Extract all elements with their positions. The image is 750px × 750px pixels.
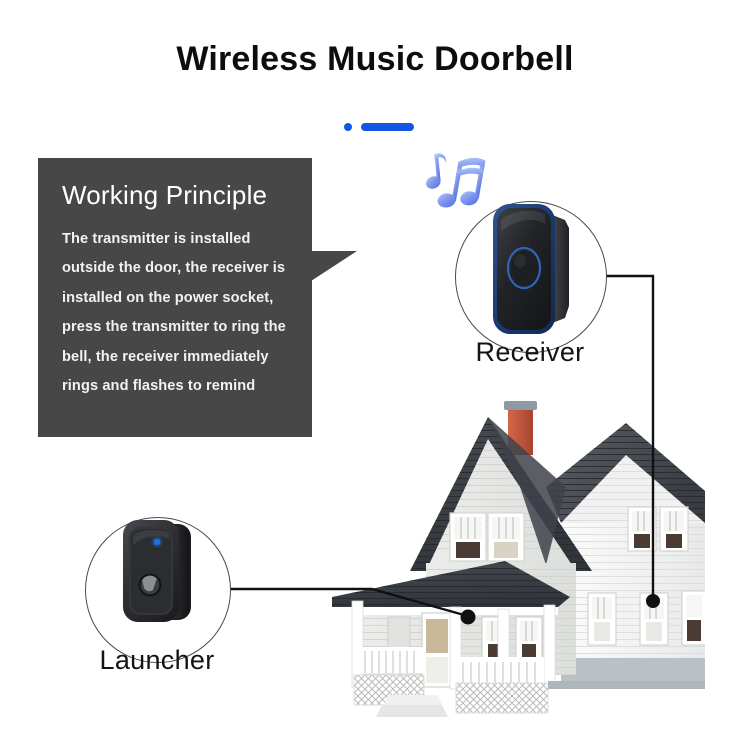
callout-heading: Working Principle xyxy=(62,180,290,211)
receiver-device[interactable] xyxy=(487,198,579,340)
product-infographic: Wireless Music Doorbell xyxy=(0,0,750,750)
signal-dot-icon xyxy=(344,123,352,131)
launcher-device[interactable] xyxy=(115,518,203,628)
receiver-connector-line xyxy=(596,265,668,610)
receiver-label: Receiver xyxy=(430,337,630,368)
working-principle-callout: Working Principle The transmitter is ins… xyxy=(38,158,312,437)
launcher-connector-line xyxy=(224,575,486,635)
callout-tail-pointer xyxy=(311,251,357,281)
launcher-label: Launcher xyxy=(57,645,257,676)
signal-bar-icon xyxy=(361,123,414,131)
wireless-signal-indicator xyxy=(344,120,414,134)
page-title: Wireless Music Doorbell xyxy=(0,40,750,79)
callout-body-text: The transmitter is installed outside the… xyxy=(62,225,290,402)
